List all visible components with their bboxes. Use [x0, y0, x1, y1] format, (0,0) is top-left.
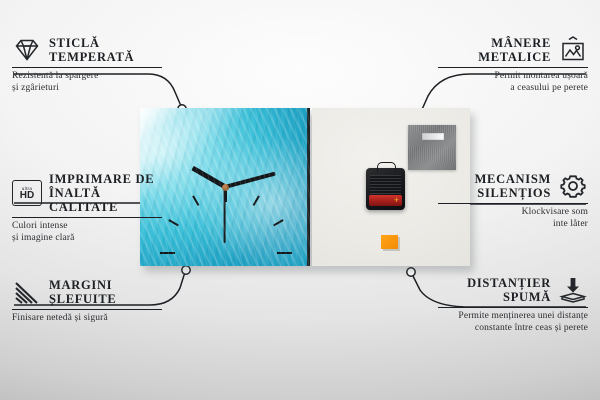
foam-spacer-pad — [381, 235, 398, 249]
gear-icon — [558, 172, 588, 200]
feature-header: MECANISM SILENȚIOS — [438, 172, 588, 200]
feature-title-block: IMPRIMARE DE ÎNALTĂ CALITATE — [49, 172, 162, 214]
clock-tick — [192, 195, 199, 206]
feature-header: ultra HD IMPRIMARE DE ÎNALTĂ CALITATE — [12, 172, 162, 214]
clock-tick — [253, 195, 260, 206]
clock-hour-hand — [191, 166, 226, 189]
feature-high-quality-print: ultra HD IMPRIMARE DE ÎNALTĂ CALITATE Cu… — [12, 172, 162, 244]
feature-title-block: MÂNERE METALICE — [478, 36, 551, 64]
product-image: + — [140, 108, 470, 268]
infographic-canvas: + STICLĂ TEMPERATĂ Reziste — [0, 0, 600, 400]
feature-subtitle-line2: și zgârieturi — [12, 83, 162, 95]
feature-title-block: MARGINI ȘLEFUITE — [49, 278, 116, 306]
feature-subtitle-line1: Rezistentă la spargere — [12, 71, 162, 83]
feature-title-block: STICLĂ TEMPERATĂ — [49, 36, 134, 64]
feature-title-line1: MARGINI — [49, 278, 116, 292]
feature-title-line2: SPUMĂ — [467, 290, 551, 304]
feature-divider — [12, 67, 162, 68]
hanging-picture-frame-icon — [558, 36, 588, 64]
ultra-hd-big-label: HD — [20, 191, 34, 201]
clock-mechanism: + — [366, 168, 405, 210]
feature-subtitle-line1: Klockvisare som — [438, 207, 588, 219]
feature-subtitle-line1: Finisare netedă și sigură — [12, 313, 162, 325]
feature-subtitle-line2: constante între ceas și perete — [438, 323, 588, 335]
feature-title-block: MECANISM SILENȚIOS — [475, 172, 551, 200]
battery: + — [369, 195, 402, 206]
arrow-onto-layer-icon — [558, 276, 588, 304]
feature-polished-edges: MARGINI ȘLEFUITE Finisare netedă și sigu… — [12, 278, 162, 325]
polished-edge-stripes-icon — [12, 278, 42, 306]
glass-edge — [307, 108, 310, 266]
feature-metal-hooks: MÂNERE METALICE Permit montarea ușoară a… — [438, 36, 588, 94]
feature-title-line1: DISTANȚIER — [467, 276, 551, 290]
diamond-icon — [12, 36, 42, 64]
feature-title-line2: SILENȚIOS — [475, 186, 551, 200]
feature-title-line1: MECANISM — [475, 172, 551, 186]
feature-header: MARGINI ȘLEFUITE — [12, 278, 162, 306]
clock-tick — [277, 252, 292, 254]
feature-subtitle-line1: Permit montarea ușoară — [438, 71, 588, 83]
clock-minute-hand — [224, 172, 275, 189]
feature-title-line2: ÎNALTĂ CALITATE — [49, 186, 162, 214]
feature-title-line2: ȘLEFUITE — [49, 292, 116, 306]
feature-subtitle-line2: și imagine clară — [12, 233, 162, 245]
clock-dial — [140, 108, 310, 266]
feature-divider — [438, 203, 588, 204]
feature-subtitle-line1: Culori intense — [12, 221, 162, 233]
feature-title-block: DISTANȚIER SPUMĂ — [467, 276, 551, 304]
feature-subtitle-line1: Permite menținerea unei distanțe — [438, 311, 588, 323]
feature-divider — [438, 307, 588, 308]
feature-title-line1: STICLĂ — [49, 36, 134, 50]
feature-header: MÂNERE METALICE — [438, 36, 588, 64]
feature-title-line1: IMPRIMARE DE — [49, 172, 162, 186]
feature-header: DISTANȚIER SPUMĂ — [438, 276, 588, 304]
feature-tempered-glass: STICLĂ TEMPERATĂ Rezistentă la spargere … — [12, 36, 162, 94]
feature-divider — [12, 309, 162, 310]
clock-center-cap — [222, 184, 229, 191]
feature-divider — [12, 217, 162, 218]
mechanism-ribs — [370, 175, 401, 194]
ultra-hd-badge-icon: ultra HD — [12, 180, 42, 206]
feature-title-line1: MÂNERE — [478, 36, 551, 50]
hanger-slot — [422, 133, 444, 140]
feature-header: STICLĂ TEMPERATĂ — [12, 36, 162, 64]
feature-subtitle-line2: inte låter — [438, 219, 588, 231]
battery-plus-label: + — [393, 196, 400, 204]
feature-subtitle-line2: a ceasului pe perete — [438, 83, 588, 95]
clock-front-face — [140, 108, 310, 266]
clock-tick — [160, 252, 175, 254]
clock-tick — [168, 219, 179, 226]
feature-title-line2: TEMPERATĂ — [49, 50, 134, 64]
clock-tick — [273, 219, 284, 226]
feature-silent-mechanism: MECANISM SILENȚIOS Klockvisare som inte … — [438, 172, 588, 230]
feature-divider — [438, 67, 588, 68]
feature-title-line2: METALICE — [478, 50, 551, 64]
clock-second-hand — [224, 187, 226, 243]
metal-hanger-plate — [408, 125, 456, 170]
feature-foam-spacer: DISTANȚIER SPUMĂ Permite menținerea unei… — [438, 276, 588, 334]
mechanism-hook — [377, 162, 396, 172]
